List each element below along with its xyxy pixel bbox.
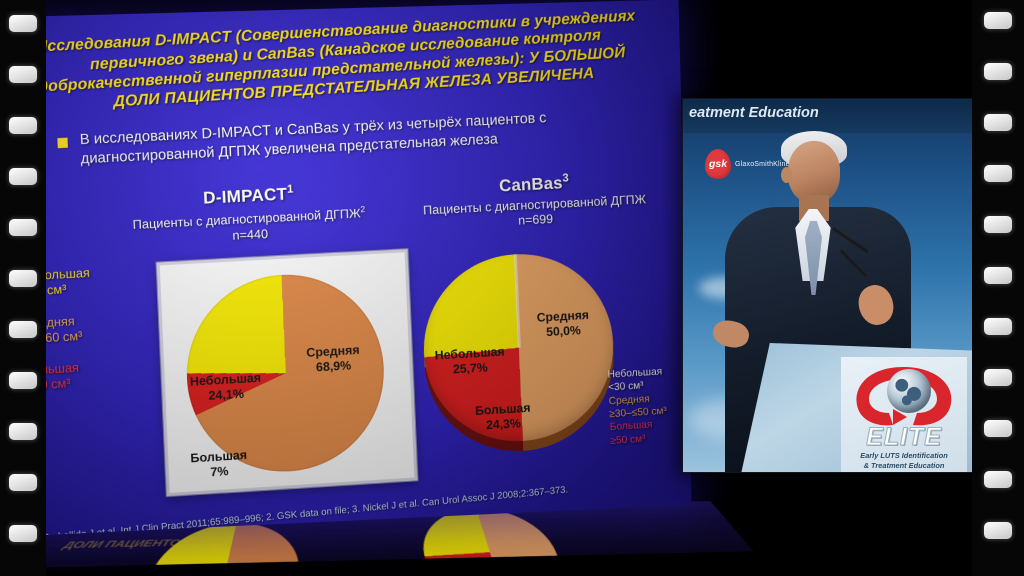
film-sprocket-hole [984,114,1012,131]
film-sprocket-hole [9,372,37,389]
film-sprocket-hole [984,267,1012,284]
right-chart-title-sup: 3 [562,172,569,184]
gsk-wordmark: GlaxoSmithKline [735,161,790,168]
left-slice-label-small: Небольшая 24,1% [173,370,279,407]
film-sprocket-hole [9,66,37,83]
projection-screen: Исследования D-IMPACT (Совершенствование… [30,8,690,520]
right-chart-header: CanBas3 Пациенты с диагностированной ДГП… [395,167,673,234]
film-sprocket-hole [9,423,37,440]
gsk-mark-text: gsk [705,149,731,179]
film-sprocket-hole [9,270,37,287]
elite-tagline-line2: & Treatment Education [864,461,945,470]
film-sprocket-hole [984,369,1012,386]
backdrop-banner-text: eatment Education [689,105,819,121]
film-sprocket-hole [984,471,1012,488]
elite-tagline-line1: Early LUTS Identification [860,451,947,460]
film-sprocket-hole [984,63,1012,80]
film-sprocket-hole [984,522,1012,539]
globe-icon [887,369,931,413]
left-slice-label-mid: Средняя 68,9% [285,342,382,378]
gsk-mark-icon: gsk [705,149,731,179]
elite-wordmark: ELITE [841,423,967,452]
film-sprocket-hole [984,318,1012,335]
slide-title: Исследования D-IMPACT (Совершенствование… [23,4,677,117]
presenter-video-panel[interactable]: eatment Education gsk GlaxoSmithKline EL… [682,98,978,473]
film-sprocket-hole [9,321,37,338]
presenter-ear [781,167,792,183]
gsk-logo: gsk GlaxoSmithKline [705,149,790,179]
presentation-slide: Исследования D-IMPACT (Совершенствование… [19,0,691,536]
right-slice-label-big: Большая 24,3% [460,400,546,435]
left-chart-title-sup: 1 [287,183,294,195]
screenshot-stage: Исследования D-IMPACT (Совершенствование… [0,0,1024,576]
film-sprocket-hole [9,474,37,491]
filmstrip-left [0,0,46,576]
film-sprocket-hole [9,168,37,185]
left-chart-panel: Средняя 68,9% Небольшая 24,1% Большая 7% [157,249,418,496]
film-sprocket-hole [984,216,1012,233]
bullet-text: В исследованиях D-IMPACT и CanBas у трёх… [80,104,658,170]
presenter-head [788,141,840,203]
bullet-square-icon [57,138,68,149]
left-chart-subtitle-sup: 2 [360,204,365,214]
left-slice-label-big: Большая 7% [172,447,266,483]
elite-tagline: Early LUTS Identification & Treatment Ed… [841,451,967,470]
film-sprocket-hole [9,219,37,236]
film-sprocket-hole [984,420,1012,437]
filmstrip-right [972,0,1024,576]
elite-logo: ELITE Early LUTS Identification & Treatm… [841,357,967,473]
bullet-item: В исследованиях D-IMPACT и CanBas у трёх… [57,104,657,171]
right-slice-label-small: Небольшая 25,7% [418,344,522,380]
right-chart-panel: Средняя 50,0% Небольшая 25,7% Большая 24… [418,245,620,465]
film-sprocket-hole [9,15,37,32]
backdrop-banner: eatment Education [683,99,977,133]
film-sprocket-hole [9,117,37,134]
film-sprocket-hole [984,165,1012,182]
right-slice-label-mid: Средняя 50,0% [517,307,609,342]
right-chart-legend: Небольшая <30 см³ Средняя ≥30–≤50 см³ Бо… [607,363,691,447]
left-chart-header: D-IMPACT1 Пациенты с диагностированной Д… [112,179,386,248]
film-sprocket-hole [984,12,1012,29]
film-sprocket-hole [9,525,37,542]
